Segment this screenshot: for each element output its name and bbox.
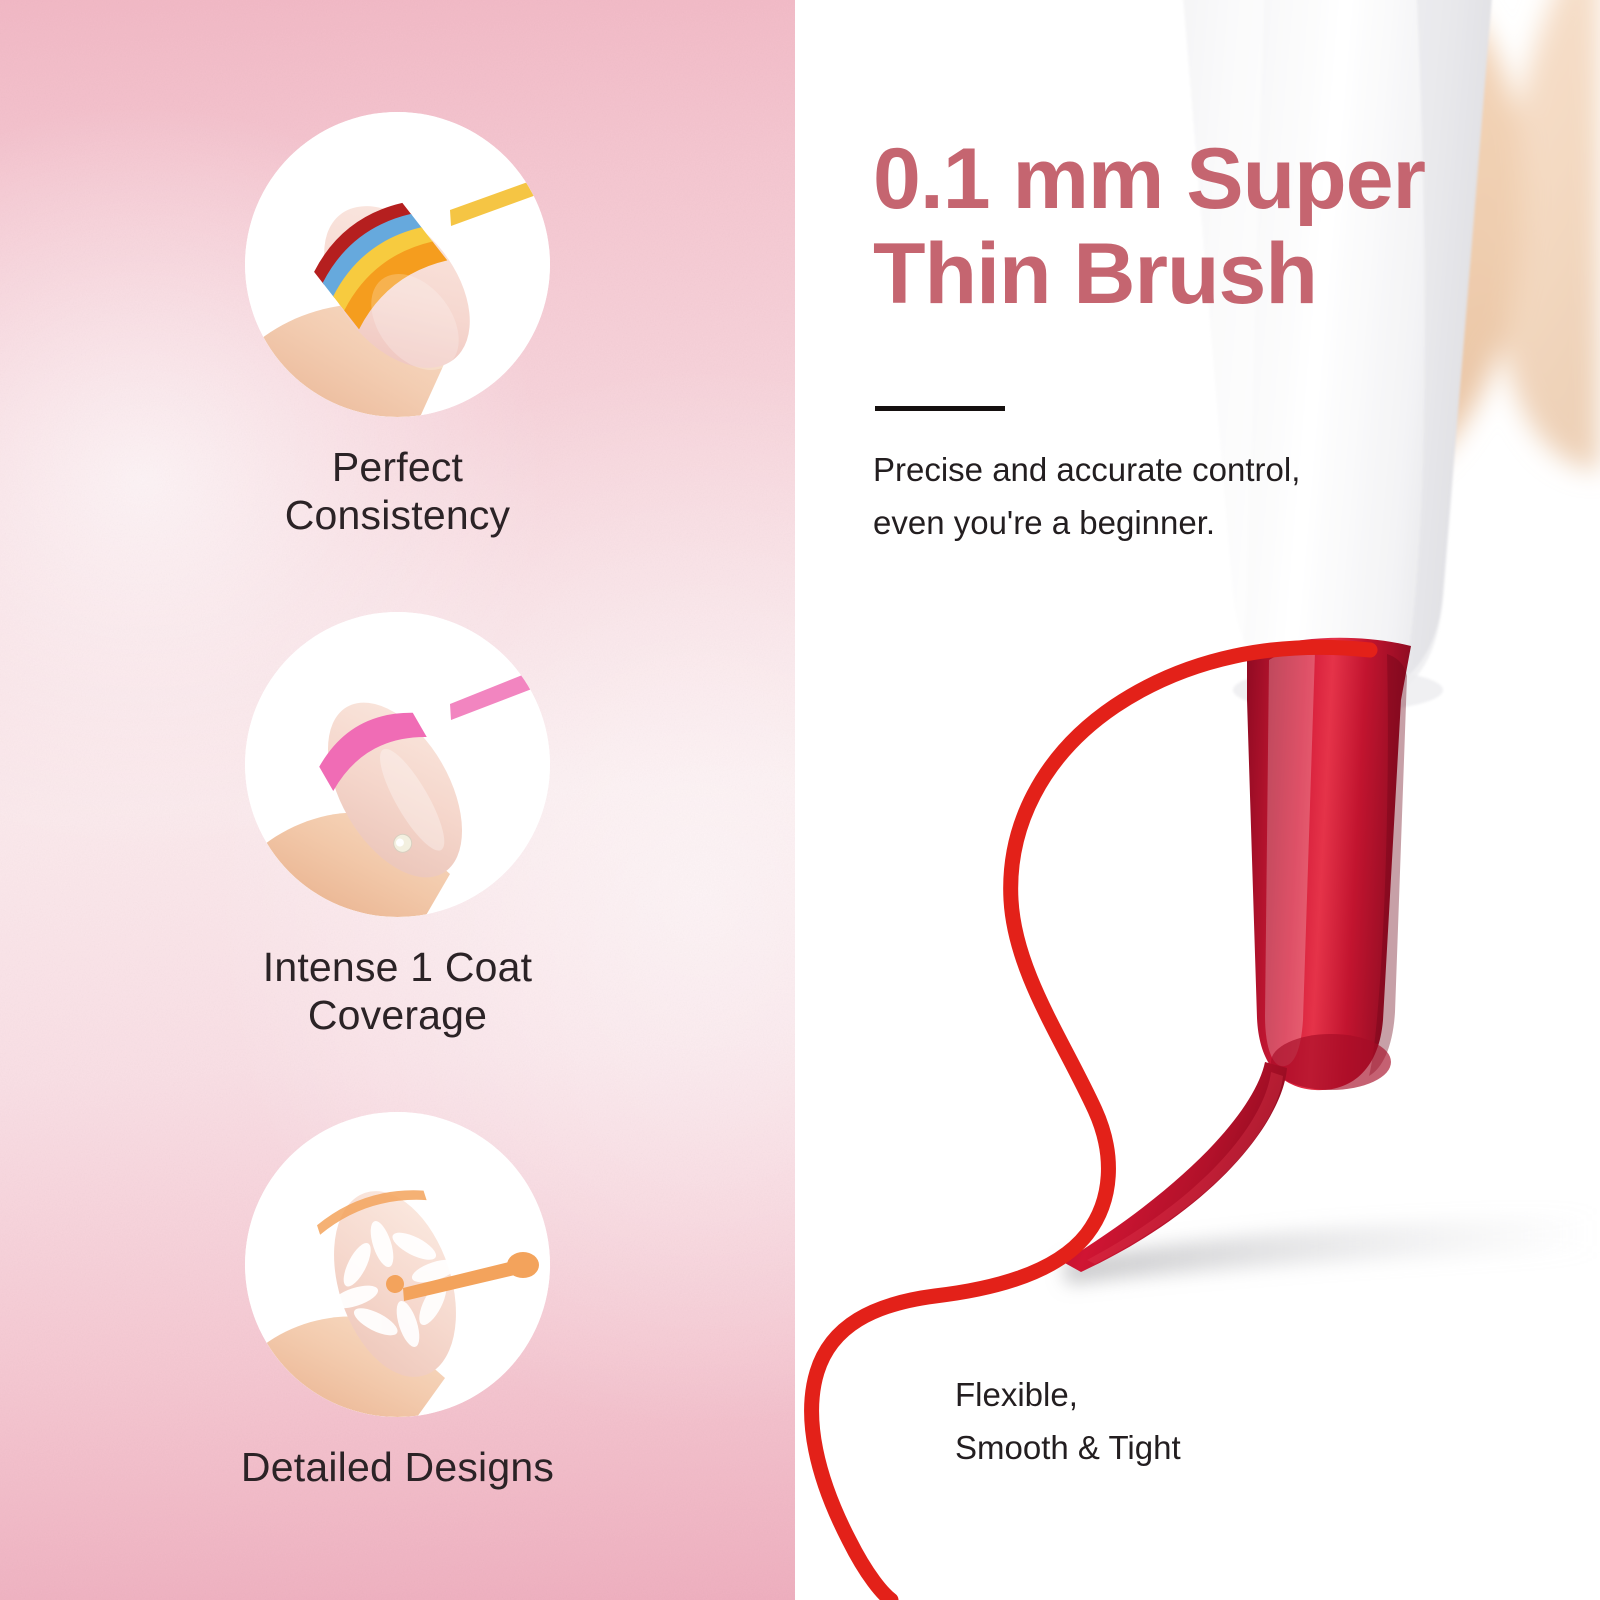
nail-pink-tip-rhinestone-photo [245,612,550,917]
headline-line-1: 0.1 mm Super [873,132,1593,227]
right-hero-panel: 0.1 mm Super Thin Brush Precise and accu… [795,0,1600,1600]
feature-intense-1-coat-coverage: Intense 1 Coat Coverage [0,612,795,1040]
subtitle-line-2: even you're a beginner. [873,496,1433,549]
title-underline-rule [875,406,1005,411]
feature-perfect-consistency: Perfect Consistency [0,112,795,540]
feature-label-perfect-consistency: Perfect Consistency [0,443,795,540]
feature-detailed-designs: Detailed Designs [0,1112,795,1491]
bottom-caption-line-1: Flexible, [955,1368,1375,1421]
subtitle-line-1: Precise and accurate control, [873,443,1433,496]
bottom-caption-text: Flexible, Smooth & Tight [955,1368,1375,1475]
feature-label-detailed-designs: Detailed Designs [0,1443,795,1491]
headline-line-2: Thin Brush [873,227,1593,322]
left-feature-panel: Perfect Consistency [0,0,795,1600]
page-title: 0.1 mm Super Thin Brush [873,132,1593,321]
nail-daisy-flower-photo [245,1112,550,1417]
feature-label-intense-1-coat-coverage: Intense 1 Coat Coverage [0,943,795,1040]
subtitle-text: Precise and accurate control, even you'r… [873,443,1433,550]
bottom-caption-line-2: Smooth & Tight [955,1421,1375,1474]
nail-rainbow-stripes-photo [245,112,550,417]
product-infographic: Perfect Consistency [0,0,1600,1600]
